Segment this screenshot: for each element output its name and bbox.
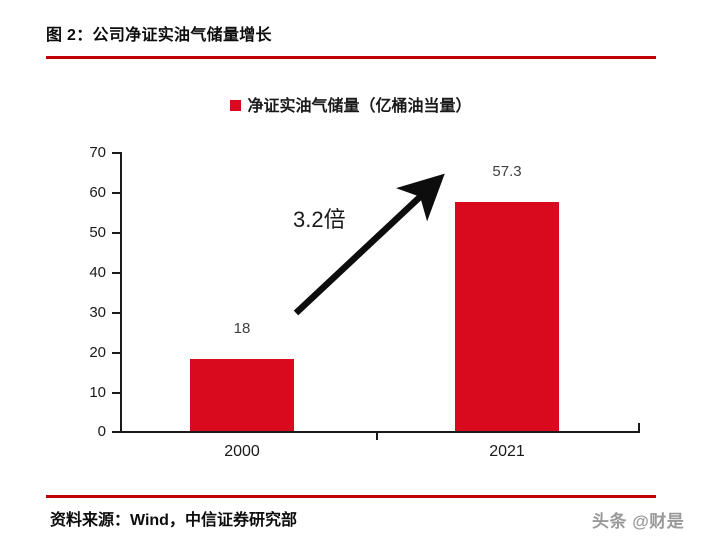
y-tick-mark bbox=[112, 352, 120, 354]
bar-2021[interactable] bbox=[455, 202, 559, 431]
y-tick-label: 20 bbox=[89, 344, 106, 361]
y-tick-mark bbox=[112, 232, 120, 234]
y-tick-label: 50 bbox=[89, 224, 106, 241]
x-axis-label-2000: 2000 bbox=[192, 443, 292, 461]
growth-arrow-icon bbox=[270, 165, 450, 325]
footer-divider bbox=[46, 495, 656, 498]
y-tick-mark bbox=[112, 272, 120, 274]
source-note: 资料来源：Wind，中信证券研究部 bbox=[50, 506, 297, 530]
bar-chart: 70 60 50 40 30 20 10 0 bbox=[0, 0, 702, 547]
x-axis-category-divider-tick bbox=[376, 431, 378, 440]
figure-page: 图 2：公司净证实油气储量增长 净证实油气储量（亿桶油当量） 70 60 50 … bbox=[0, 0, 702, 547]
y-tick-mark bbox=[112, 312, 120, 314]
y-tick-60: 60 bbox=[60, 192, 120, 194]
y-tick-30: 30 bbox=[60, 312, 120, 314]
y-tick-label: 60 bbox=[89, 184, 106, 201]
x-axis-label-2021: 2021 bbox=[457, 443, 557, 461]
y-axis-line bbox=[120, 152, 122, 433]
y-tick-0: 0 bbox=[60, 431, 120, 433]
y-tick-10: 10 bbox=[60, 392, 120, 394]
y-tick-label: 70 bbox=[89, 144, 106, 161]
y-tick-20: 20 bbox=[60, 352, 120, 354]
y-tick-label: 30 bbox=[89, 304, 106, 321]
x-axis-line bbox=[120, 431, 640, 433]
bar-value-2021: 57.3 bbox=[457, 163, 557, 180]
bar-2000[interactable] bbox=[190, 359, 294, 431]
y-tick-mark bbox=[112, 192, 120, 194]
x-axis-end-tick bbox=[638, 423, 640, 432]
y-tick-mark bbox=[112, 152, 120, 154]
y-tick-mark bbox=[112, 431, 120, 433]
y-tick-label: 40 bbox=[89, 264, 106, 281]
growth-annotation-label: 3.2倍 bbox=[293, 202, 346, 234]
y-tick-50: 50 bbox=[60, 232, 120, 234]
y-tick-label: 10 bbox=[89, 384, 106, 401]
watermark: 头条 @财是 bbox=[592, 507, 684, 532]
y-tick-label: 0 bbox=[98, 423, 106, 440]
y-tick-70: 70 bbox=[60, 152, 120, 154]
y-tick-40: 40 bbox=[60, 272, 120, 274]
y-tick-mark bbox=[112, 392, 120, 394]
